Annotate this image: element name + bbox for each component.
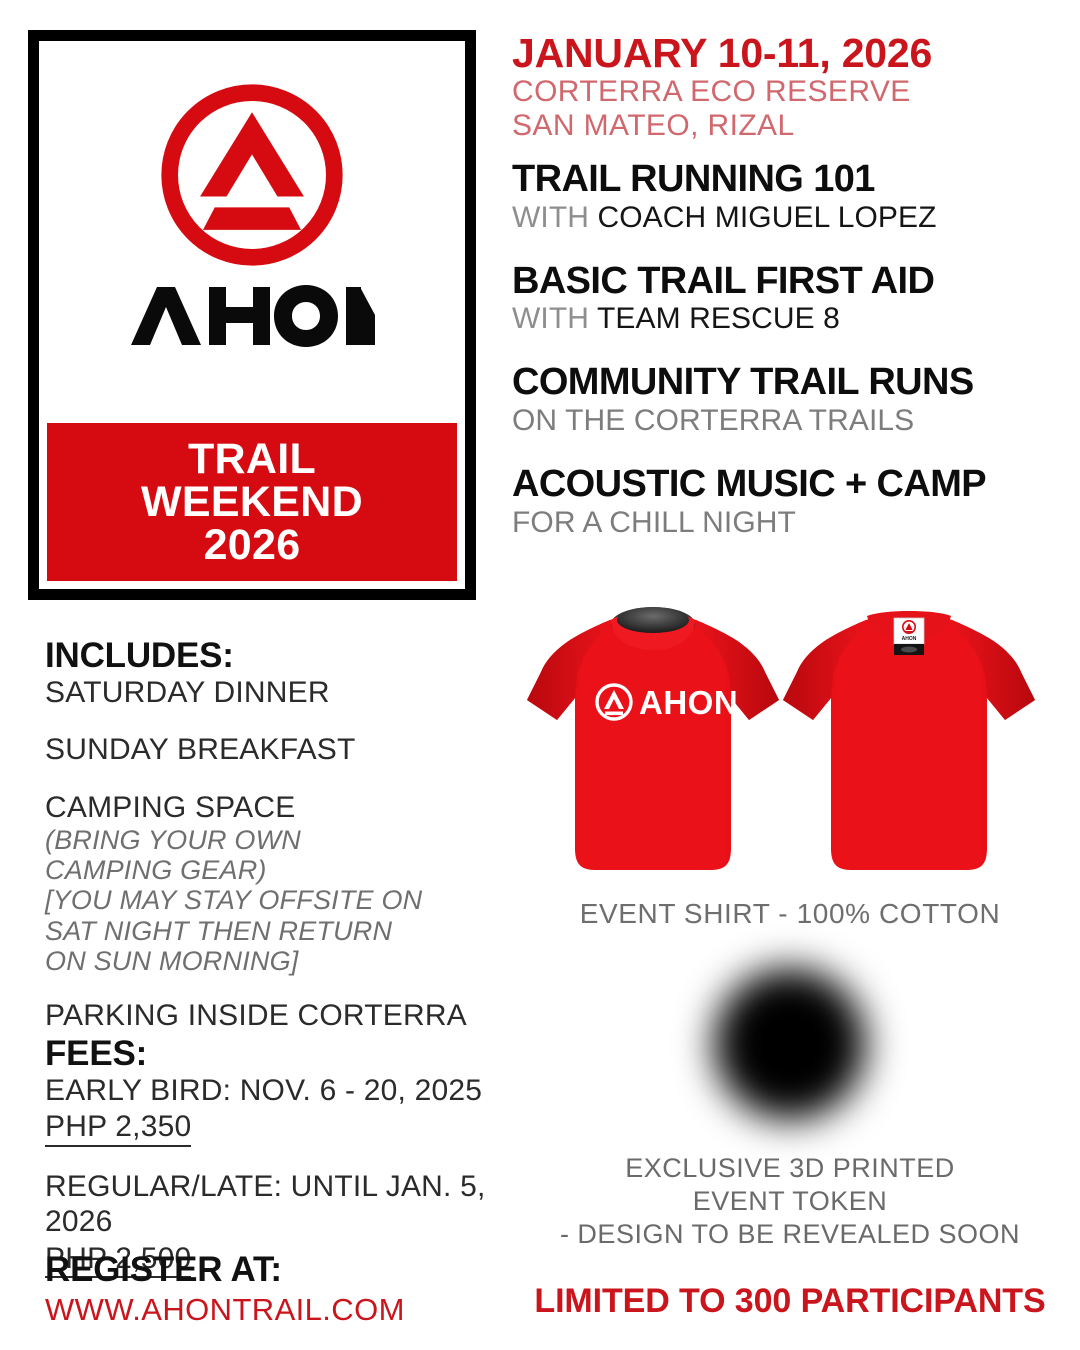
- camping-note-line-2: CAMPING GEAR): [45, 855, 475, 885]
- includes-item-saturday-dinner: SATURDAY DINNER: [45, 675, 475, 710]
- program-presenter: TEAM RESCUE 8: [597, 302, 840, 335]
- fee-early-bird-label: EARLY BIRD: NOV. 6 - 20, 2025: [45, 1073, 515, 1108]
- program-with-prefix: WITH: [512, 201, 597, 234]
- program-item: BASIC TRAIL FIRST AID WITH TEAM RESCUE 8: [512, 262, 1078, 337]
- token-caption-line-1: EXCLUSIVE 3D PRINTED: [500, 1152, 1080, 1185]
- includes-heading: INCLUDES:: [45, 638, 475, 675]
- svg-text:AHON: AHON: [639, 684, 738, 721]
- program-title: ACOUSTIC MUSIC + CAMP: [512, 465, 1078, 505]
- event-date: JANUARY 10-11, 2026: [512, 32, 1072, 75]
- limited-participants-banner: LIMITED TO 300 PARTICIPANTS: [500, 1282, 1080, 1321]
- program-title: BASIC TRAIL FIRST AID: [512, 262, 1078, 302]
- banner-line-2: WEEKEND: [141, 481, 363, 524]
- logo-top-area: [39, 41, 465, 423]
- shirt-neck-label: AHON: [894, 618, 924, 655]
- includes-item-parking: PARKING INSIDE CORTERRA: [45, 998, 475, 1033]
- spacer: [45, 976, 475, 998]
- camping-note-line-5: ON SUN MORNING]: [45, 946, 475, 976]
- logo-card-inner: TRAIL WEEKEND 2026: [39, 41, 465, 589]
- event-venue-line-1: CORTERRA ECO RESERVE: [512, 75, 1072, 109]
- spacer: [45, 1147, 515, 1169]
- program-subtitle: WITH TEAM RESCUE 8: [512, 302, 1078, 336]
- register-heading: REGISTER AT:: [45, 1252, 505, 1289]
- banner-line-1: TRAIL: [188, 438, 316, 481]
- camping-note-line-3: [YOU MAY STAY OFFSITE ON: [45, 885, 475, 915]
- program-subtitle: ON THE CORTERRA TRAILS: [512, 404, 1078, 438]
- program-title: COMMUNITY TRAIL RUNS: [512, 363, 1078, 403]
- event-shirt-mockup: AHON AHON: [515, 580, 1075, 890]
- token-caption-line-3: - DESIGN TO BE REVEALED SOON: [500, 1218, 1080, 1251]
- program-presenter: COACH MIGUEL LOPEZ: [597, 201, 936, 234]
- svg-text:AHON: AHON: [902, 636, 917, 642]
- includes-item-sunday-breakfast: SUNDAY BREAKFAST: [45, 732, 475, 767]
- token-blurred-blob: [714, 968, 866, 1120]
- ahon-peak-in-circle-icon: [154, 77, 350, 273]
- register-section: REGISTER AT: WWW.AHONTRAIL.COM: [45, 1252, 505, 1328]
- ahon-wordmark: [127, 283, 377, 349]
- program-subtitle: FOR A CHILL NIGHT: [512, 506, 1078, 540]
- event-venue-line-2: SAN MATEO, RIZAL: [512, 109, 1072, 143]
- left-column: TRAIL WEEKEND 2026 INCLUDES: SATURDAY DI…: [0, 0, 500, 1350]
- camping-note-line-1: (BRING YOUR OWN: [45, 825, 475, 855]
- shirt-front: AHON: [527, 607, 779, 870]
- shirt-illustration: AHON AHON: [515, 580, 1075, 890]
- program-item: ACOUSTIC MUSIC + CAMP FOR A CHILL NIGHT: [512, 465, 1078, 540]
- event-token-preview: [500, 960, 1080, 1150]
- trail-weekend-banner: TRAIL WEEKEND 2026: [47, 423, 457, 581]
- spacer: [45, 710, 475, 732]
- banner-line-3: 2026: [204, 524, 301, 567]
- spacer: [45, 768, 475, 790]
- register-url-link[interactable]: WWW.AHONTRAIL.COM: [45, 1291, 505, 1328]
- includes-item-camping-space: CAMPING SPACE: [45, 790, 475, 825]
- program-subtitle: WITH COACH MIGUEL LOPEZ: [512, 201, 1078, 235]
- fee-early-bird-amount-row: PHP 2,350: [45, 1109, 515, 1147]
- poster-root: TRAIL WEEKEND 2026 INCLUDES: SATURDAY DI…: [0, 0, 1080, 1350]
- event-date-block: JANUARY 10-11, 2026 CORTERRA ECO RESERVE…: [512, 32, 1072, 142]
- program-with-prefix: WITH: [512, 302, 597, 335]
- program-item: COMMUNITY TRAIL RUNS ON THE CORTERRA TRA…: [512, 363, 1078, 438]
- camping-note-line-4: SAT NIGHT THEN RETURN: [45, 916, 475, 946]
- token-caption: EXCLUSIVE 3D PRINTED EVENT TOKEN - DESIG…: [500, 1152, 1080, 1251]
- fee-early-bird-amount: PHP 2,350: [45, 1110, 191, 1147]
- fee-regular-label: REGULAR/LATE: UNTIL JAN. 5, 2026: [45, 1169, 515, 1240]
- fees-section: FEES: EARLY BIRD: NOV. 6 - 20, 2025 PHP …: [45, 1036, 515, 1278]
- program-list: TRAIL RUNNING 101 WITH COACH MIGUEL LOPE…: [512, 160, 1078, 567]
- fees-heading: FEES:: [45, 1036, 515, 1073]
- shirt-back: AHON: [783, 611, 1035, 870]
- program-title: TRAIL RUNNING 101: [512, 160, 1078, 200]
- right-column: JANUARY 10-11, 2026 CORTERRA ECO RESERVE…: [500, 0, 1080, 1350]
- shirt-caption: EVENT SHIRT - 100% COTTON: [500, 898, 1080, 930]
- program-item: TRAIL RUNNING 101 WITH COACH MIGUEL LOPE…: [512, 160, 1078, 235]
- includes-section: INCLUDES: SATURDAY DINNER SUNDAY BREAKFA…: [45, 638, 475, 1033]
- token-caption-line-2: EVENT TOKEN: [500, 1185, 1080, 1218]
- brand-logo-card: TRAIL WEEKEND 2026: [28, 30, 476, 600]
